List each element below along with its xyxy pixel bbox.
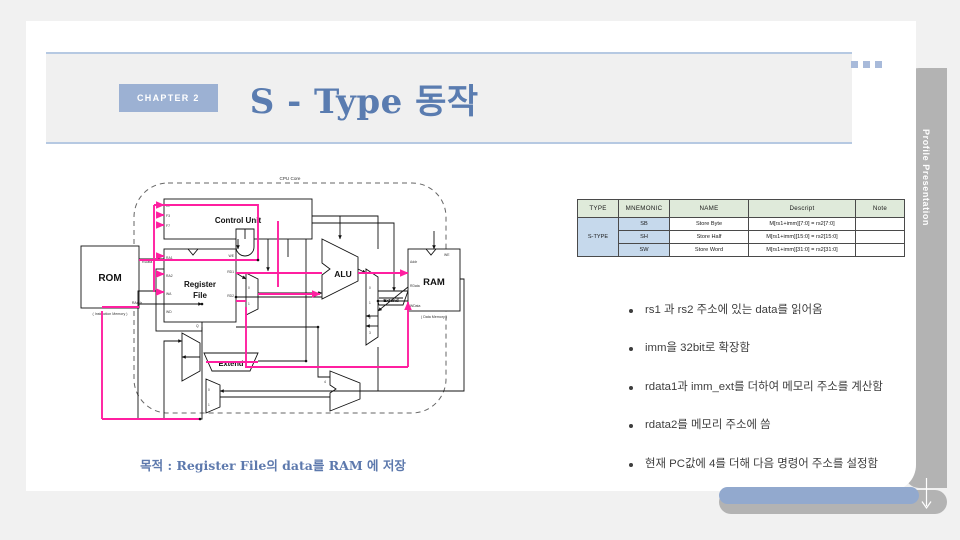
slide-header: CHAPTER 2 S - Type 동작 [46, 52, 852, 144]
table-header-row: TYPE MNEMONIC NAME Descript Note [578, 200, 905, 218]
cu-f7-port: F7 [166, 224, 170, 228]
description-bullet-list: rs1 과 rs2 주소에 있는 data를 읽어옴 imm을 32bit로 확… [588, 303, 958, 495]
cell-name: Store Word [670, 244, 749, 257]
extend-label: Extend [218, 359, 243, 368]
cell-note [856, 231, 905, 244]
list-item: imm을 32bit로 확장함 [628, 341, 958, 356]
cu-f3-port: F3 [166, 214, 170, 218]
more-options-icon[interactable] [851, 61, 882, 68]
cell-note [856, 218, 905, 231]
control-unit-label: Control Unit [215, 216, 262, 225]
cell-name: Store Half [670, 231, 749, 244]
table-row: SW Store Word M[rs1+imm][31:0] = rs2[31:… [578, 244, 905, 257]
table-row: S-TYPE SB Store Byte M[rs1+imm][7:0] = r… [578, 218, 905, 231]
pc-q-port: Q [196, 324, 199, 328]
instruction-table: TYPE MNEMONIC NAME Descript Note S-TYPE … [577, 199, 905, 257]
slide-card: CHAPTER 2 S - Type 동작 CPU Core [26, 21, 916, 491]
rf-wa-port: WA [166, 292, 172, 296]
cell-descript: M[rs1+imm][15:0] = rs2[15:0] [749, 231, 856, 244]
rf-we-port: WE [229, 254, 235, 258]
svg-text:1: 1 [208, 403, 210, 407]
cell-name: Store Byte [670, 218, 749, 231]
cell-note [856, 244, 905, 257]
ram-addr-port: Addr [410, 260, 418, 264]
list-item: rs1 과 rs2 주소에 있는 data를 읽어옴 [628, 303, 958, 318]
rom-label: ROM [98, 273, 121, 284]
col-header-mnemonic: MNEMONIC [619, 200, 670, 218]
svg-text:1: 1 [369, 301, 371, 305]
col-header-name: NAME [670, 200, 749, 218]
svg-text:2: 2 [369, 316, 371, 320]
cpu-core-label: CPU Core [280, 176, 301, 181]
scroll-down-icon[interactable] [905, 470, 947, 518]
cell-mnemonic: SB [619, 218, 670, 231]
rf-rd1-port: RD1 [227, 270, 234, 274]
datapath-svg: CPU Core ROM ( Instruction Memory ) RDat… [78, 161, 468, 451]
col-header-note: Note [856, 200, 905, 218]
rf-ra2-port: RA2 [166, 274, 173, 278]
table-row: SH Store Half M[rs1+imm][15:0] = rs2[15:… [578, 231, 905, 244]
dot-2 [863, 61, 870, 68]
rom-sublabel: ( Instruction Memory ) [93, 312, 128, 316]
svg-text:0: 0 [248, 286, 250, 290]
register-file-label: Register [184, 280, 216, 289]
register-file-label2: File [193, 291, 207, 300]
page-title: S - Type 동작 [250, 74, 479, 123]
down-arrow-glyph [920, 477, 933, 511]
svg-text:0: 0 [208, 388, 210, 392]
list-item: rdata2를 메모리 주소에 씀 [628, 418, 958, 433]
dot-1 [851, 61, 858, 68]
diagram-caption: 목적 : Register File의 data를 RAM 에 저장 [78, 455, 468, 474]
progress-bar-fill[interactable] [719, 487, 919, 504]
svg-text:1: 1 [248, 302, 250, 306]
svg-text:0: 0 [369, 286, 371, 290]
ram-rdata-port: RData [410, 284, 420, 288]
dot-3 [875, 61, 882, 68]
cell-descript: M[rs1+imm][31:0] = rs2[31:0] [749, 244, 856, 257]
col-header-descript: Descript [749, 200, 856, 218]
ram-wdata-port: WData [410, 304, 420, 308]
cell-mnemonic: SW [619, 244, 670, 257]
const-four: 4 [324, 380, 326, 384]
branch-mux [206, 379, 220, 413]
ram-sublabel: ( Data Memory ) [421, 315, 447, 319]
cell-type-s: S-TYPE [578, 218, 619, 257]
rf-rd2-port: RD2 [227, 294, 234, 298]
col-header-type: TYPE [578, 200, 619, 218]
ram-we-port: WE [444, 253, 450, 257]
ram-label: RAM [423, 277, 445, 288]
cell-mnemonic: SH [619, 231, 670, 244]
result-mux [366, 269, 378, 345]
slide-canvas: Profile Presentation CHAPTER 2 S - Type … [0, 0, 960, 540]
alu-srcb-mux [246, 273, 258, 315]
cpu-datapath-diagram: CPU Core ROM ( Instruction Memory ) RDat… [78, 161, 468, 451]
chapter-badge: CHAPTER 2 [119, 84, 218, 112]
svg-text:3: 3 [369, 331, 371, 335]
rf-wd-port: WD [166, 310, 172, 314]
alu-label: ALU [334, 269, 351, 279]
list-item: rdata1과 imm_ext를 더하여 메모리 주소를 계산함 [628, 380, 958, 395]
cell-descript: M[rs1+imm][7:0] = rs2[7:0] [749, 218, 856, 231]
